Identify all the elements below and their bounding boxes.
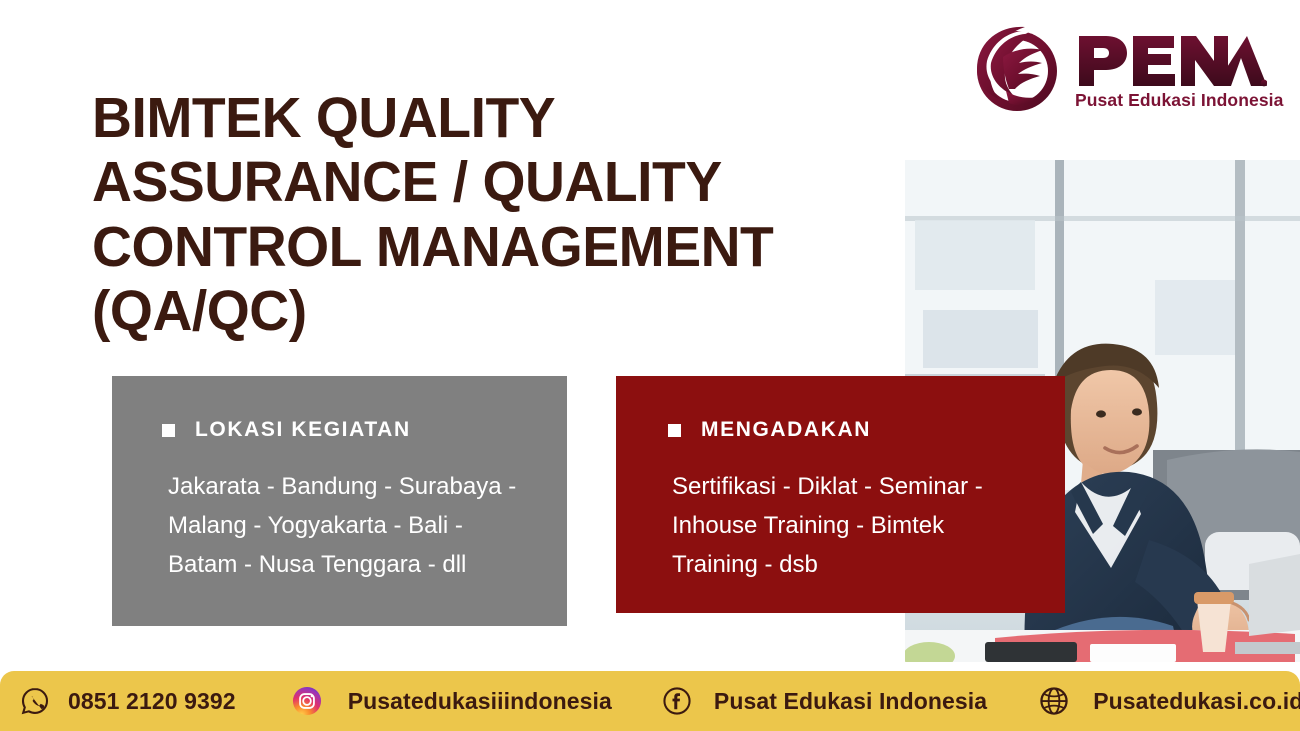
contact-website-label: Pusatedukasi.co.id: [1093, 688, 1300, 715]
square-bullet-icon: [668, 424, 681, 437]
card-mengadakan: MENGADAKAN Sertifikasi - Diklat - Semina…: [616, 376, 1065, 613]
card-lokasi-kegiatan: LOKASI KEGIATAN Jakarata - Bandung - Sur…: [112, 376, 567, 626]
contact-facebook-label: Pusat Edukasi Indonesia: [714, 688, 987, 715]
instagram-icon: [292, 686, 322, 716]
promo-banner: Pusat Edukasi Indonesia BIMTEK QUALITY A…: [0, 0, 1300, 731]
pena-wordmark-icon: [1075, 32, 1267, 90]
contact-instagram-label: Pusatedukasiiindonesia: [348, 688, 612, 715]
brand-wordmark-group: Pusat Edukasi Indonesia: [1075, 28, 1283, 110]
card-body-mengadakan: Sertifikasi - Diklat - Seminar - Inhouse…: [672, 468, 1035, 585]
brand-tagline: Pusat Edukasi Indonesia: [1075, 92, 1283, 110]
pena-emblem-icon: [963, 17, 1067, 121]
facebook-icon: [662, 686, 692, 716]
square-bullet-icon: [162, 424, 175, 437]
card-title-lokasi: LOKASI KEGIATAN: [195, 418, 411, 442]
contact-facebook[interactable]: Pusat Edukasi Indonesia: [662, 686, 987, 716]
brand-logo: Pusat Edukasi Indonesia: [963, 14, 1263, 124]
globe-icon: [1039, 686, 1069, 716]
contact-bar: 0851 2120 9392 Pusatedukasii: [0, 671, 1300, 731]
contact-instagram[interactable]: Pusatedukasiiindonesia: [292, 686, 612, 716]
page-title: BIMTEK QUALITY ASSURANCE / QUALITY CONTR…: [92, 86, 839, 344]
card-title-mengadakan: MENGADAKAN: [701, 418, 871, 442]
contact-website[interactable]: Pusatedukasi.co.id: [1039, 686, 1300, 716]
card-heading-row: LOKASI KEGIATAN: [162, 418, 537, 442]
contact-whatsapp-label: 0851 2120 9392: [68, 688, 236, 715]
card-heading-row: MENGADAKAN: [668, 418, 1035, 442]
card-body-lokasi: Jakarata - Bandung - Surabaya - Malang -…: [168, 468, 537, 585]
contact-whatsapp[interactable]: 0851 2120 9392: [20, 686, 236, 716]
whatsapp-icon: [20, 686, 50, 716]
